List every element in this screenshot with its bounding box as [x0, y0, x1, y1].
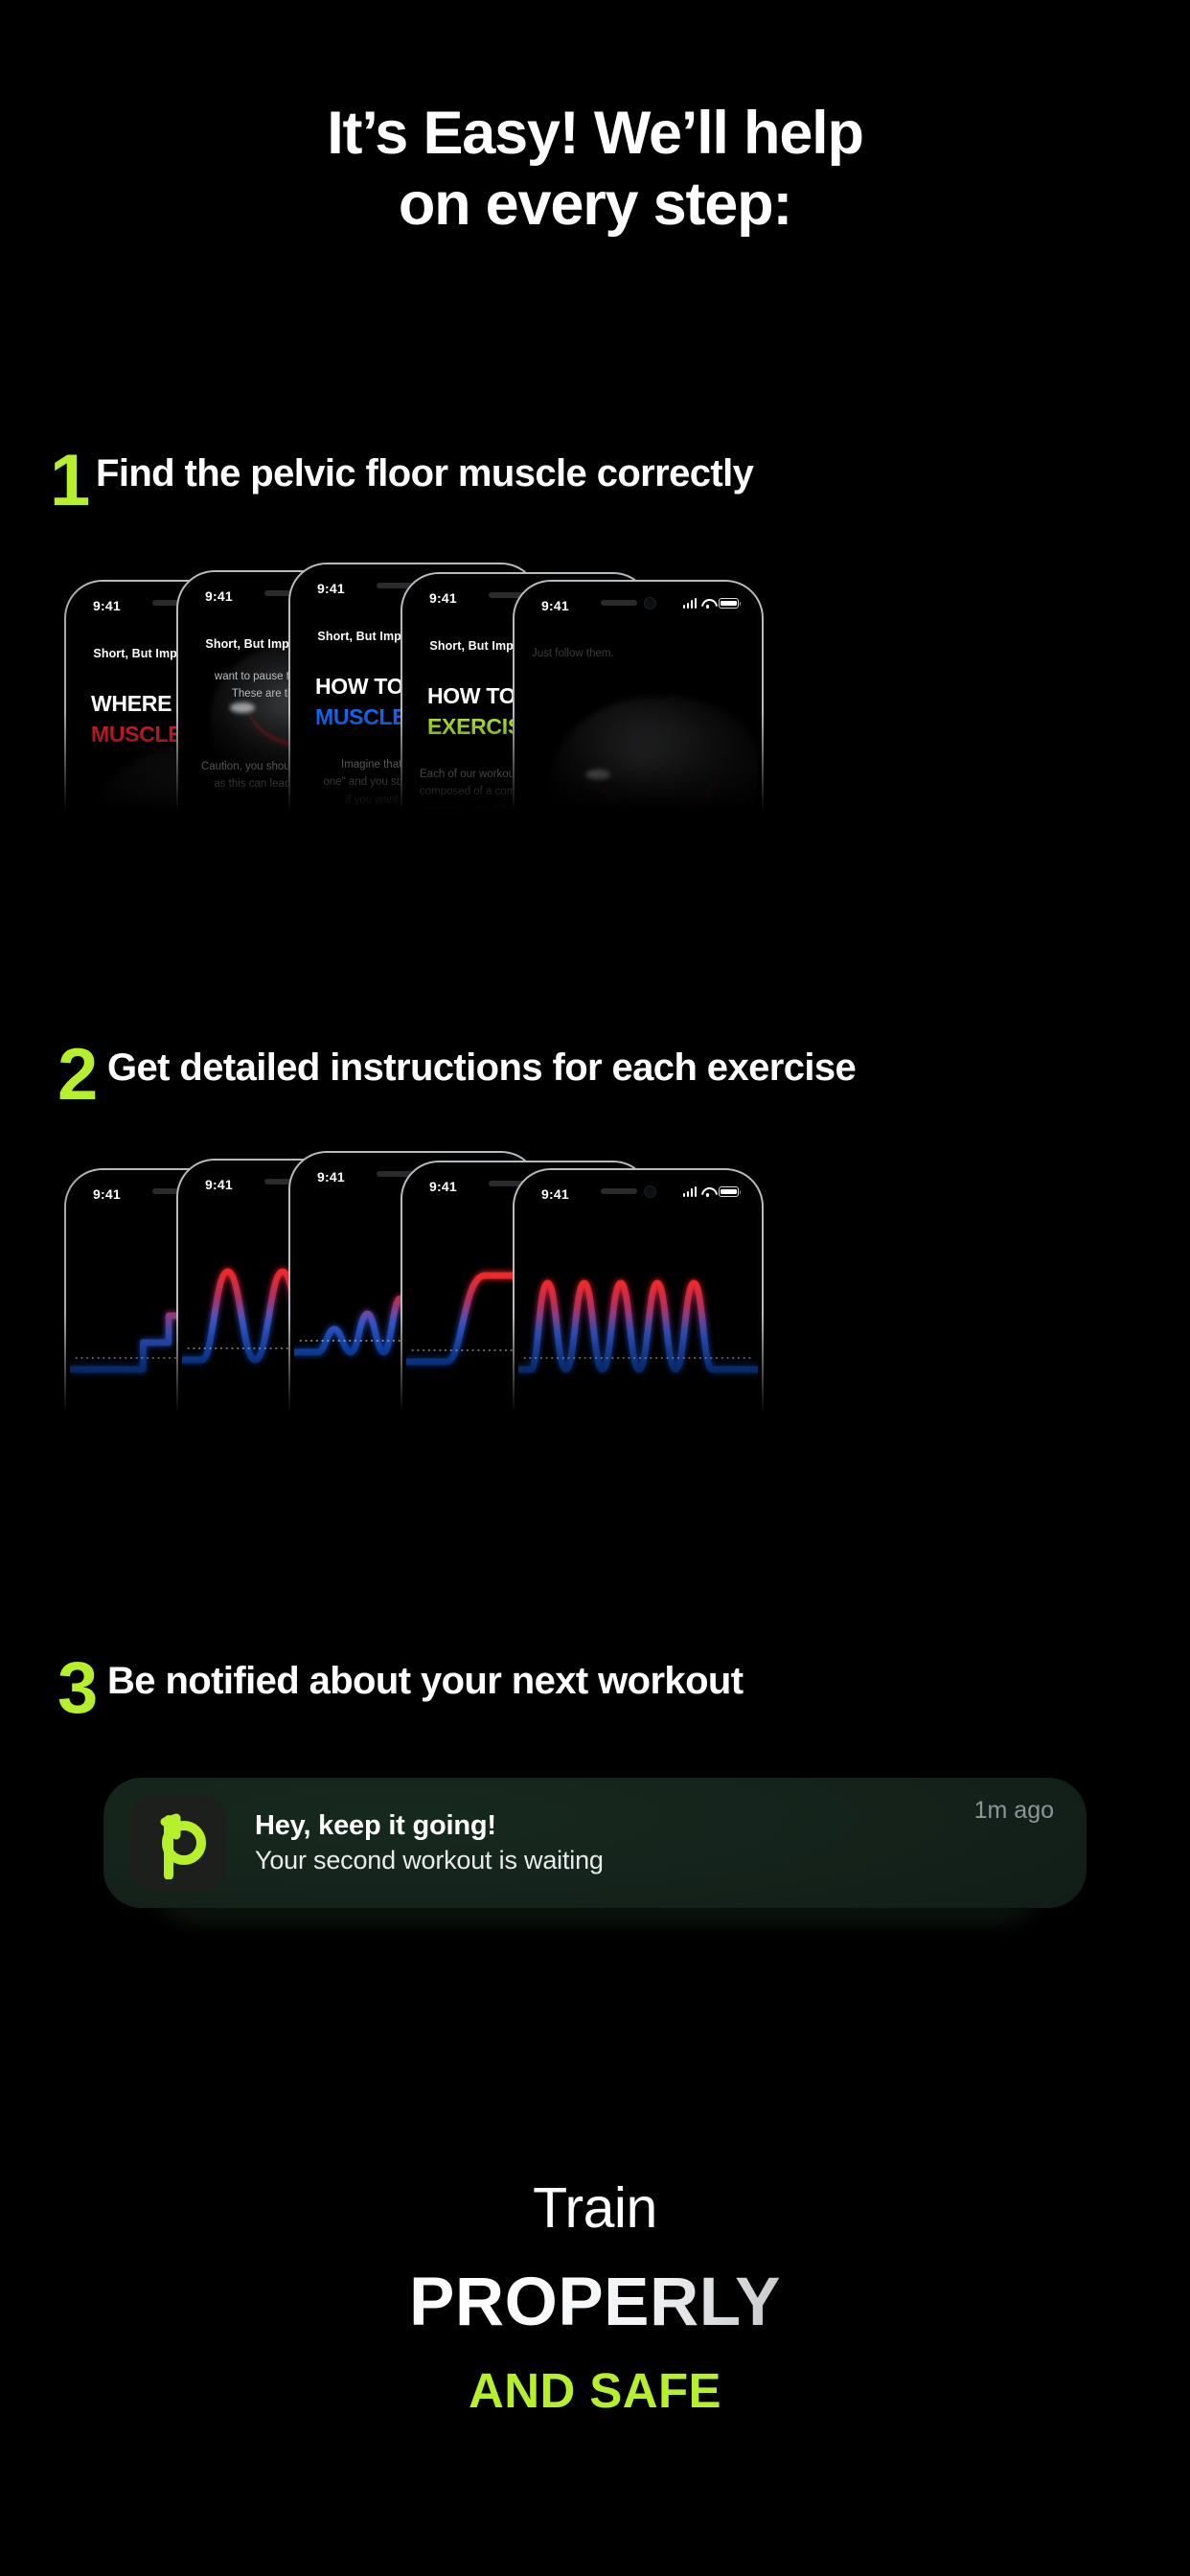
headline-line2: on every step: [399, 171, 791, 238]
step-2: 2 Get detailed instructions for each exe… [0, 1045, 1190, 1429]
step-1-number: 1 [50, 445, 90, 517]
screen-top-note: Just follow them. [532, 645, 744, 663]
status-time: 9:41 [205, 1177, 233, 1192]
step-2-number: 2 [57, 1039, 98, 1112]
cellular-icon [683, 1186, 698, 1197]
step-3-header: 3 Be notified about your next workout [0, 1658, 1190, 1705]
intro-phone-5[interactable]: 9:41 Just follow them. At the start, jus… [513, 580, 764, 826]
status-time: 9:41 [541, 1186, 569, 1202]
battery-icon [719, 1186, 739, 1197]
guide-phone-5[interactable]: 9:41 [513, 1168, 764, 1429]
headline-green: It’s Easy! [327, 100, 578, 167]
status-time: 9:41 [317, 1169, 345, 1184]
step-1-header: 1 Find the pelvic floor muscle correctly [0, 450, 1190, 497]
status-bar: 9:41 [518, 1174, 758, 1218]
headline-white: We’ll help [579, 100, 863, 167]
status-time: 9:41 [93, 1186, 121, 1202]
footer-block: Train PROPERLY AND SAFE [0, 2175, 1190, 2419]
step-1: 1 Find the pelvic floor muscle correctly… [0, 450, 1190, 826]
guide-phone-5-screen: 9:41 [518, 1174, 758, 1429]
notification-title: Hey, keep it going! [255, 1810, 974, 1842]
step-2-phone-row: 9:41 [0, 1151, 1190, 1429]
step-2-title: Get detailed instructions for each exerc… [107, 1045, 1018, 1092]
status-indicators [683, 1186, 740, 1197]
exercise-waveform-chart [518, 1243, 758, 1425]
anatomy-illustration [518, 586, 758, 826]
notification-card[interactable]: Hey, keep it going! Your second workout … [103, 1778, 1087, 1908]
dynamic-island [601, 1184, 675, 1199]
step-1-phone-row: 9:41 Short, But Important Introduction W… [0, 563, 1190, 826]
notification-text: Hey, keep it going! Your second workout … [255, 1810, 974, 1875]
step-3-title: Be notified about your next workout [107, 1658, 1018, 1705]
step-3: 3 Be notified about your next workout He… [0, 1658, 1190, 1705]
step-1-title: Find the pelvic floor muscle correctly [96, 450, 1006, 497]
notification-subtitle: Your second workout is waiting [255, 1846, 974, 1875]
status-time: 9:41 [429, 1179, 457, 1194]
footer-line-1: Train [0, 2175, 1190, 2241]
intro-phone-5-screen: 9:41 Just follow them. At the start, jus… [518, 586, 758, 826]
promo-page: It’s Easy! We’ll help on every step: // … [0, 0, 1190, 2576]
notification-area: Hey, keep it going! Your second workout … [0, 1778, 1190, 1941]
step-2-header: 2 Get detailed instructions for each exe… [0, 1045, 1190, 1092]
wifi-icon [701, 1187, 714, 1197]
step-3-number: 3 [57, 1652, 98, 1725]
app-logo-icon [130, 1795, 226, 1891]
footer-line-2: PROPERLY [0, 2264, 1190, 2341]
notification-timestamp: 1m ago [974, 1797, 1054, 1825]
page-headline: It’s Easy! We’ll help on every step: [0, 98, 1190, 241]
footer-line-3: AND SAFE [0, 2362, 1190, 2419]
